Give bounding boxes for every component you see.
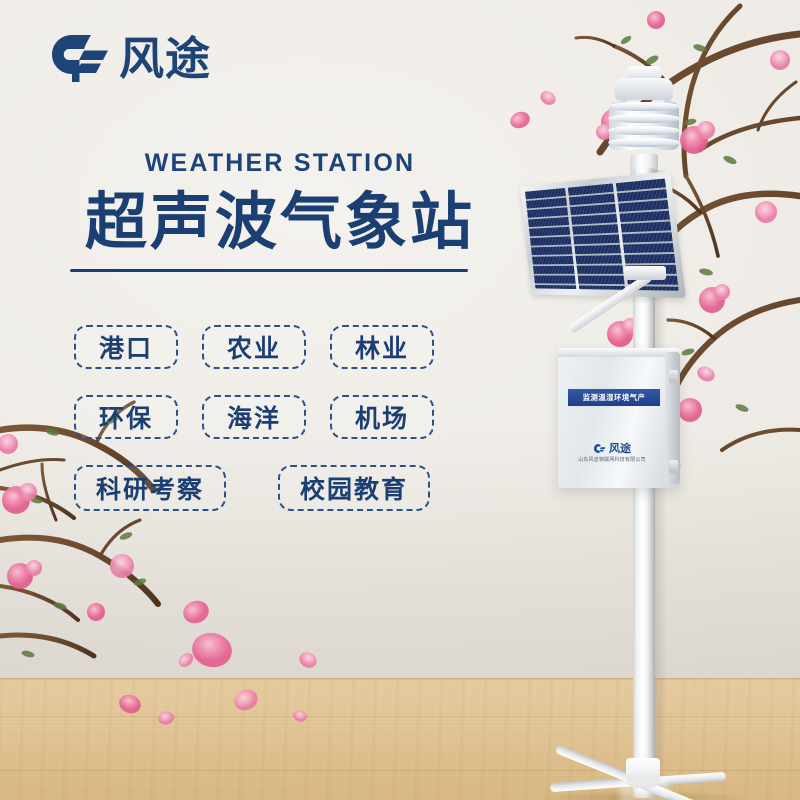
tag-scientific-research[interactable]: 科研考察 [74, 465, 226, 511]
controller-box-banner-text: 监测温湿环境气产 [583, 392, 646, 402]
sensor-transducer-plate [615, 78, 673, 100]
tag-agriculture[interactable]: 农业 [202, 325, 306, 369]
solar-panel-mount-bracket [624, 266, 666, 280]
radiation-shield-plate [608, 102, 680, 111]
tag-airport[interactable]: 机场 [330, 395, 434, 439]
tag-row: 环保 海洋 机场 [74, 395, 494, 439]
product-banner-scene: 监测温湿环境气产 风途 山东风途物联网科技有限公司 [0, 0, 800, 800]
radiation-shield-plate [608, 114, 680, 123]
radiation-shield-plate [608, 138, 680, 147]
controller-box-latch [669, 460, 678, 473]
solar-cell-column [568, 183, 625, 289]
tag-ocean[interactable]: 海洋 [202, 395, 306, 439]
title-underline [70, 269, 468, 272]
controller-box-subtitle: 山东风途物联网科技有限公司 [558, 456, 666, 463]
fengtu-cloud-g-logo-icon [48, 30, 110, 86]
radiation-shield-plate [608, 126, 680, 135]
tag-row: 港口 农业 林业 [74, 325, 494, 369]
headline-block: WEATHER STATION 超声波气象站 [70, 150, 490, 272]
tag-forestry[interactable]: 林业 [330, 325, 434, 369]
controller-box-logo: 风途 [558, 440, 666, 456]
fengtu-cloud-g-logo-icon [593, 443, 606, 454]
brand-header: 风途 [48, 30, 211, 86]
controller-box-latch [669, 370, 678, 383]
tag-environmental-protection[interactable]: 环保 [74, 395, 178, 439]
headline-eyebrow: WEATHER STATION [70, 150, 490, 176]
tag-port[interactable]: 港口 [74, 325, 178, 369]
application-tag-list: 港口 农业 林业 环保 海洋 机场 科研考察 校园教育 [74, 325, 494, 511]
ultrasonic-weather-station: 监测温湿环境气产 风途 山东风途物联网科技有限公司 [468, 58, 800, 800]
controller-box: 监测温湿环境气产 风途 山东风途物联网科技有限公司 [558, 348, 680, 488]
controller-box-banner: 监测温湿环境气产 [568, 389, 660, 406]
page-title: 超声波气象站 [70, 190, 490, 253]
controller-box-lid [558, 348, 680, 357]
floor-reflection [620, 780, 668, 800]
tag-row: 科研考察 校园教育 [74, 465, 494, 511]
tag-campus-education[interactable]: 校园教育 [278, 465, 430, 511]
controller-box-logo-name: 风途 [609, 440, 631, 456]
brand-name: 风途 [119, 36, 211, 81]
